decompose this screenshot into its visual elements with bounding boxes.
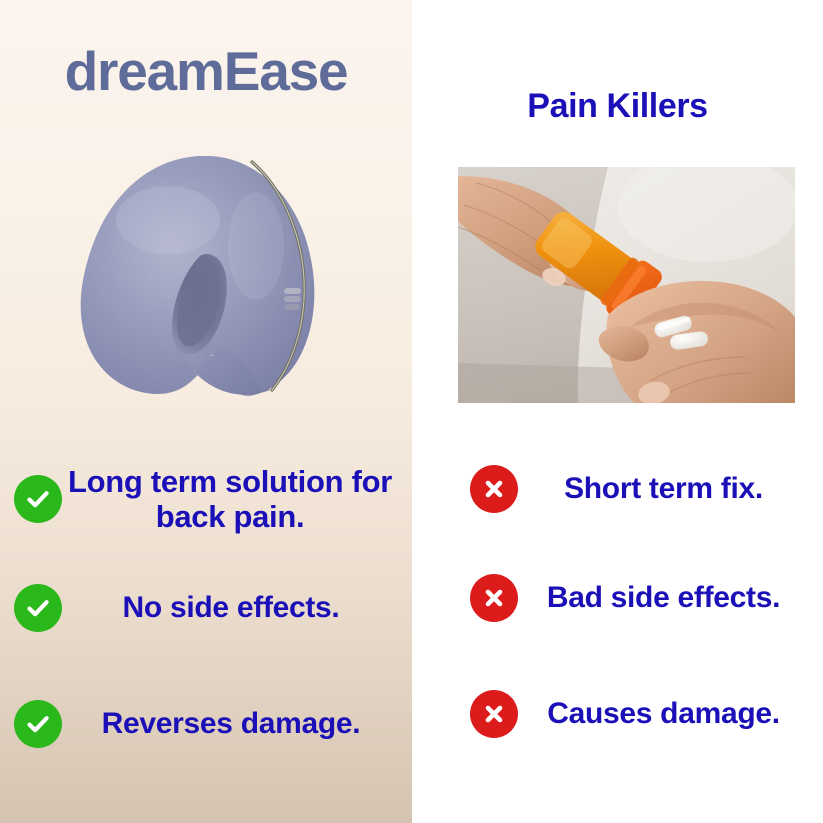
drawback-label: Bad side effects. bbox=[518, 581, 799, 615]
check-icon bbox=[14, 475, 62, 523]
painkillers-column: Pain Killers bbox=[412, 0, 823, 823]
drawback-label: Causes damage. bbox=[518, 697, 799, 731]
check-icon bbox=[14, 584, 62, 632]
cross-icon bbox=[470, 465, 518, 513]
benefit-list: Long term solution for back pain. No sid… bbox=[0, 447, 412, 783]
benefit-row: No side effects. bbox=[0, 551, 412, 665]
painkillers-photo bbox=[458, 167, 795, 403]
comparison-graphic: dreamEase bbox=[0, 0, 823, 823]
cross-icon bbox=[470, 690, 518, 738]
cross-icon bbox=[470, 574, 518, 622]
drawback-list: Short term fix. Bad side effects. Causes… bbox=[412, 437, 823, 773]
benefit-label: Long term solution for back pain. bbox=[62, 464, 396, 535]
drawback-row: Bad side effects. bbox=[412, 541, 823, 655]
drawback-label: Short term fix. bbox=[518, 472, 799, 506]
benefit-label: No side effects. bbox=[62, 591, 396, 625]
painkillers-title: Pain Killers bbox=[412, 88, 823, 125]
check-icon bbox=[14, 700, 62, 748]
product-image bbox=[56, 150, 356, 415]
brand-title: dreamEase bbox=[0, 43, 412, 101]
benefit-row: Reverses damage. bbox=[0, 665, 412, 783]
benefit-label: Reverses damage. bbox=[62, 707, 396, 741]
product-column: dreamEase bbox=[0, 0, 412, 823]
benefit-row: Long term solution for back pain. bbox=[0, 447, 412, 551]
drawback-row: Short term fix. bbox=[412, 437, 823, 541]
drawback-row: Causes damage. bbox=[412, 655, 823, 773]
